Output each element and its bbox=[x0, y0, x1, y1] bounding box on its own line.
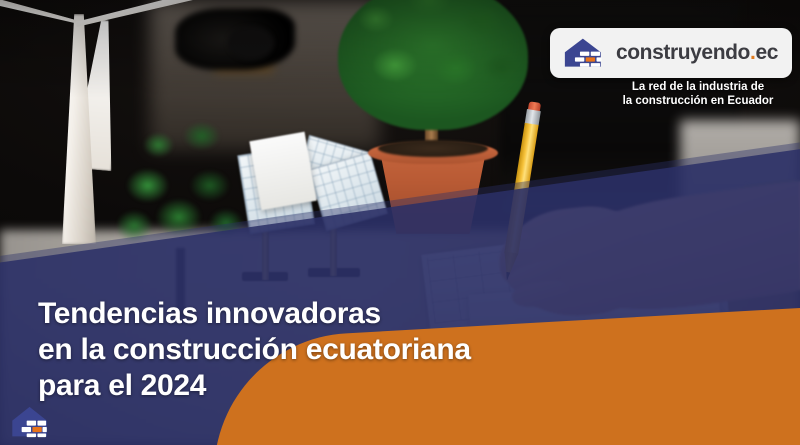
brand-logo-badge[interactable]: construyendo.ec bbox=[550, 28, 792, 78]
watermark-logo bbox=[8, 399, 54, 445]
brand-name-suffix: ec bbox=[755, 41, 778, 64]
headline-line-3: para el 2024 bbox=[38, 368, 508, 404]
tagline-line-2: la construcción en Ecuador bbox=[608, 94, 788, 108]
brand-name: construyendo.ec bbox=[616, 41, 778, 65]
brand-name-prefix: construyendo bbox=[616, 41, 750, 64]
house-brick-icon bbox=[562, 35, 608, 71]
headline-line-1: Tendencias innovadoras bbox=[38, 296, 508, 332]
brand-tagline: La red de la industria de la construcció… bbox=[608, 80, 788, 108]
headline-line-2: en la construcción ecuatoriana bbox=[38, 332, 508, 368]
promo-banner: Tendencias innovadoras en la construcció… bbox=[0, 0, 800, 445]
tagline-line-1: La red de la industria de bbox=[608, 80, 788, 94]
page-title: Tendencias innovadoras en la construcció… bbox=[38, 296, 508, 404]
house-brick-icon bbox=[8, 399, 54, 445]
